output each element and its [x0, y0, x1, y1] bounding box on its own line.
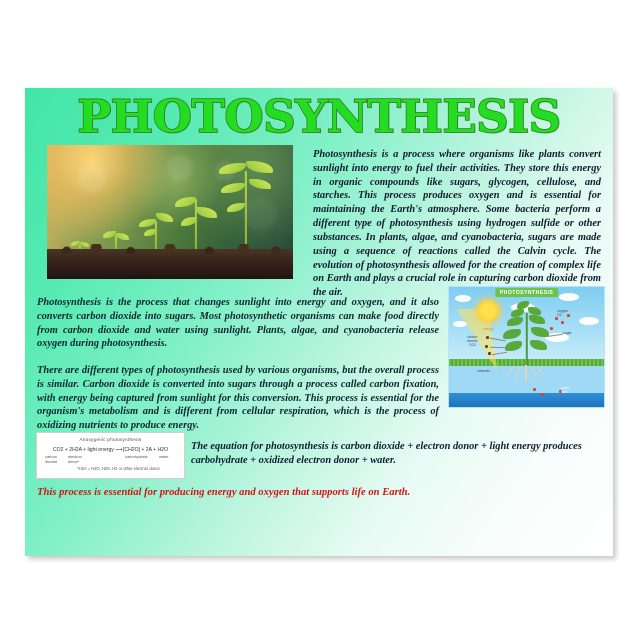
label-sugar: sugar [563, 331, 571, 335]
intro-paragraph: Photosynthesis is a process where organi… [313, 148, 601, 300]
leaf [246, 161, 273, 173]
leaf [156, 213, 173, 222]
label-donor: donor* [68, 459, 79, 464]
oxygen-molecule [567, 314, 570, 317]
cloud-icon [559, 293, 579, 301]
co2-molecule [488, 352, 491, 355]
leaf [249, 179, 271, 189]
oxygen-molecule [555, 317, 558, 320]
equation-labels: carbon electron dioxide donor* carbohydr… [37, 453, 184, 465]
label-minerals: minerals [477, 369, 490, 373]
photosynthesis-diagram: PHOTOSYNTHESIS energy oxygen O2 sugar ca… [448, 286, 605, 408]
paragraph-definition: Photosynthesis is the process that chang… [37, 296, 439, 351]
soil [47, 249, 293, 279]
co2-molecule [486, 336, 489, 339]
seedling-5 [219, 161, 273, 257]
label-water-formula: H2O [561, 390, 568, 394]
leaf [221, 183, 245, 193]
diagram-banner-label: PHOTOSYNTHESIS [495, 288, 558, 297]
leaf [219, 163, 246, 174]
conclusion-paragraph: This process is essential for producing … [37, 486, 467, 500]
oxygen-molecule [561, 321, 564, 324]
leaf [116, 233, 129, 240]
leaf [227, 203, 245, 212]
bokeh-circle [77, 163, 107, 193]
paragraph-equation-description: The equation for photosynthesis is carbo… [191, 440, 595, 468]
equation-card-title: Anoxygenic photosynthesis [37, 437, 184, 442]
cloud-icon [455, 295, 471, 302]
leaf [139, 219, 156, 227]
label-oxygen-formula: O2 [557, 313, 562, 317]
page-title: PHOTOSYNTHESIS [25, 92, 613, 142]
label-energy: energy [483, 327, 493, 331]
leaf [196, 207, 217, 218]
label-dioxide: dioxide [45, 459, 57, 464]
leaf [175, 197, 196, 207]
label-co2: CO2 [469, 343, 476, 347]
water-layer [449, 393, 604, 407]
water-molecule [541, 393, 544, 396]
anoxygenic-equation-card: Anoxygenic photosynthesis CO2 + 2H2A + l… [36, 432, 185, 479]
photosynthesis-poster: PHOTOSYNTHESIS [25, 88, 613, 556]
sun-icon [477, 300, 499, 322]
equation-footnote: *H2A = H2O, H2S, H2 or other electron do… [37, 466, 184, 471]
oxygen-molecule [550, 327, 553, 330]
label-carbohydrate: carbohydrate [125, 454, 148, 459]
label-water: water [159, 454, 169, 459]
co2-molecule [485, 345, 488, 348]
seedling-growth-photo [47, 145, 293, 279]
water-molecule [533, 388, 536, 391]
paragraph-types: There are different types of photosynthe… [37, 364, 439, 433]
cloud-icon [579, 317, 599, 325]
bokeh-circle [167, 155, 193, 181]
root [525, 365, 527, 381]
plant-stem [525, 313, 527, 365]
